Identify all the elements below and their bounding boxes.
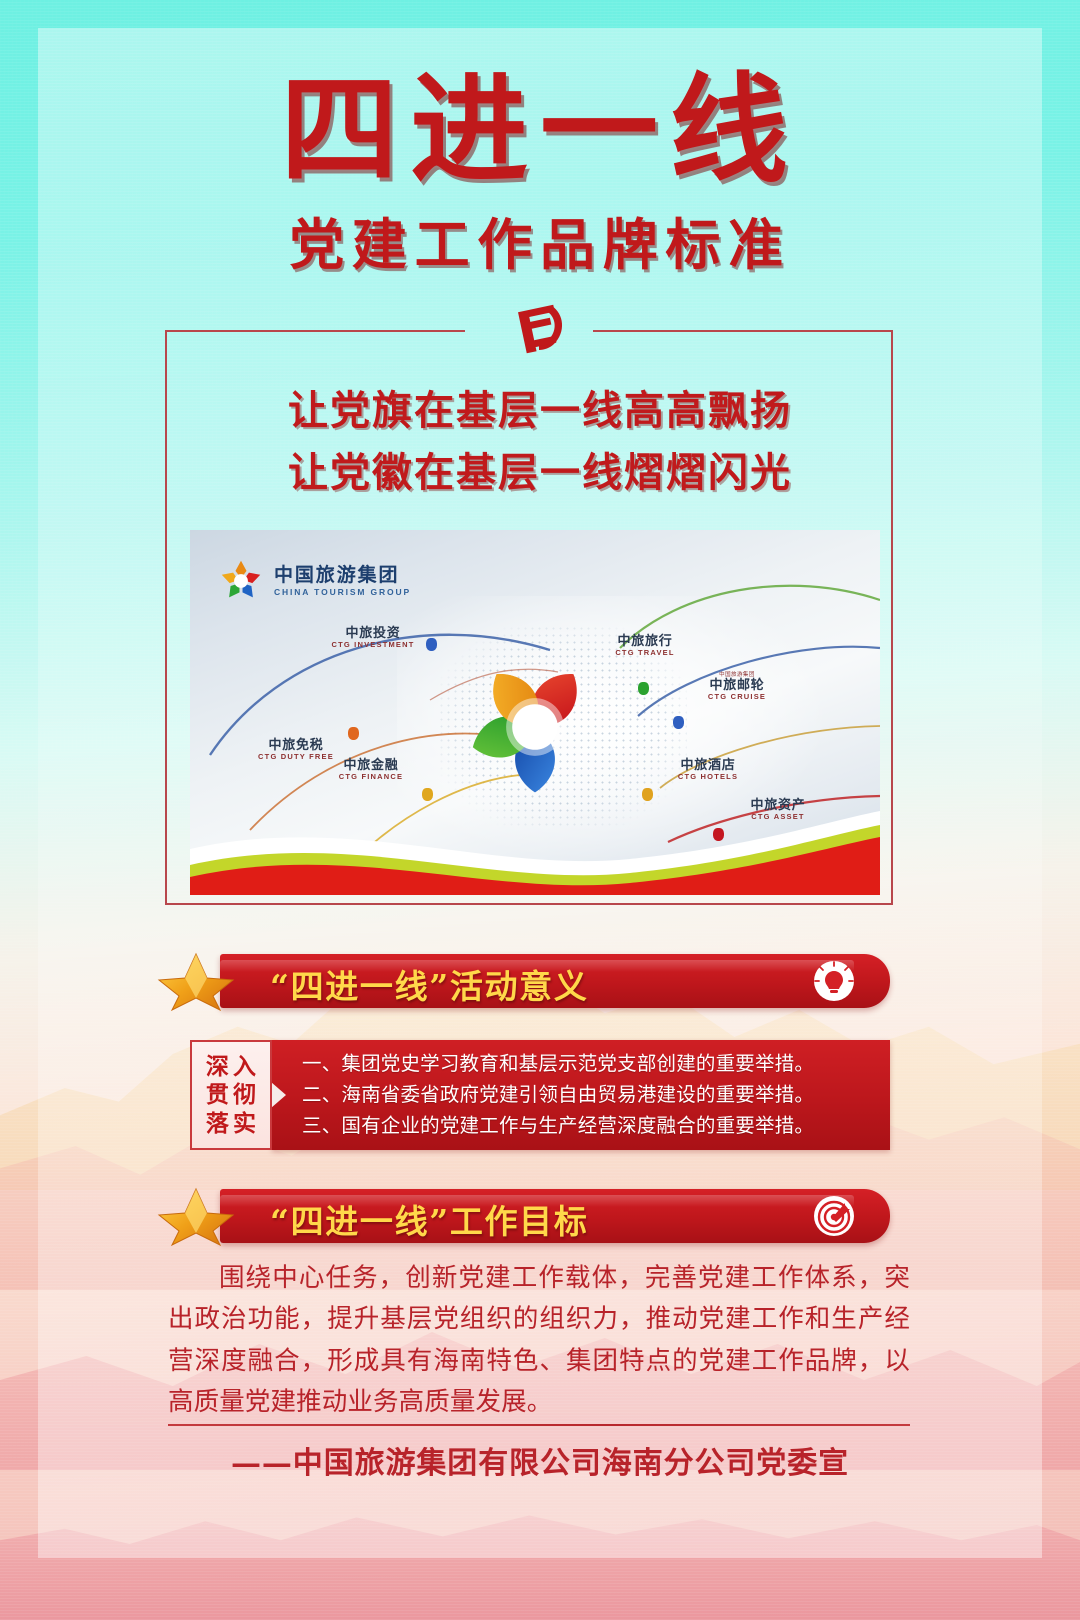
section-title: “四进一线”活动意义 [270,960,588,1008]
lightbulb-icon [812,959,856,1003]
ctg-emblem-icon [218,558,264,604]
ctg-logo-en: CHINA TOURISM GROUP [274,587,411,597]
node-label-investment: 中旅投资 CTG INVESTMENT [325,626,421,650]
node-label-travel: 中旅旅行 CTG TRAVEL [597,634,693,658]
ctg-brand-image: 中国旅游集团 CHINA TOURISM GROUP [190,530,880,895]
node-dot-travel [638,682,649,695]
node-cn: 中旅免税 [248,738,344,752]
gold-star-icon [152,950,252,1012]
node-cn: 中旅邮轮 [682,678,792,692]
node-cn: 中旅酒店 [660,758,756,772]
node-dot-investment [426,638,437,651]
footer-divider [168,1424,910,1426]
poster-content: 四进一线 党建工作品牌标准 让党旗在基层一线高高飘扬 让党徽在基层一线熠熠闪光 [0,0,1080,1620]
wave-ribbon [190,777,880,895]
badge-line-1: 深入 [202,1053,260,1080]
section-header-goal: “四进一线”工作目标 [152,1185,890,1247]
badge-shenru-guanche-luoshi: 深入 贯彻 落实 [190,1040,272,1150]
target-dart-icon [812,1194,856,1238]
node-cn: 中旅投资 [325,626,421,640]
list-item: 一、集团党史学习教育和基层示范党支部创建的重要举措。 [302,1050,880,1078]
meaning-block: 深入 贯彻 落实 一、集团党史学习教育和基层示范党支部创建的重要举措。 二、海南… [190,1040,890,1150]
badge-line-2: 贯彻 [202,1081,260,1108]
list-item: 二、海南省委省政府党建引领自由贸易港建设的重要举措。 [302,1081,880,1109]
node-cn: 中旅旅行 [597,634,693,648]
node-en: CTG CRUISE [682,693,792,701]
ctg-logo-cn: 中国旅游集团 [274,565,411,587]
list-item: 三、国有企业的党建工作与生产经营深度融合的重要举措。 [302,1112,880,1140]
node-en: CTG TRAVEL [597,649,693,657]
title-block: 四进一线 党建工作品牌标准 [0,70,1080,280]
goal-paragraph: 围绕中心任务，创新党建工作载体，完善党建工作体系，突出政治功能，提升基层党组织的… [168,1258,910,1423]
slogan-line-2: 让党徽在基层一线熠熠闪光 [0,442,1080,504]
node-label-cruise: 中国旅游集团 中旅邮轮 CTG CRUISE [682,672,792,702]
footer-attribution: ——中国旅游集团有限公司海南分公司党委宣 [0,1438,1080,1482]
section-title: “四进一线”工作目标 [270,1195,588,1243]
page-title: 四进一线 [0,70,1080,190]
node-en: CTG INVESTMENT [325,641,421,649]
gold-star-icon [152,1185,252,1247]
node-dot-cruise [673,716,684,729]
node-dot-duty-free [348,727,359,740]
meaning-list: 一、集团党史学习教育和基层示范党支部创建的重要举措。 二、海南省委省政府党建引领… [272,1040,890,1150]
section-header-meaning: “四进一线”活动意义 [152,950,890,1012]
node-cn: 中旅金融 [323,758,419,772]
ctg-logo: 中国旅游集团 CHINA TOURISM GROUP [218,558,411,604]
badge-line-3: 落实 [202,1110,260,1137]
slogan-block: 让党旗在基层一线高高飘扬 让党徽在基层一线熠熠闪光 [0,380,1080,504]
slogan-line-1: 让党旗在基层一线高高飘扬 [0,380,1080,442]
page-subtitle: 党建工作品牌标准 [0,200,1080,280]
